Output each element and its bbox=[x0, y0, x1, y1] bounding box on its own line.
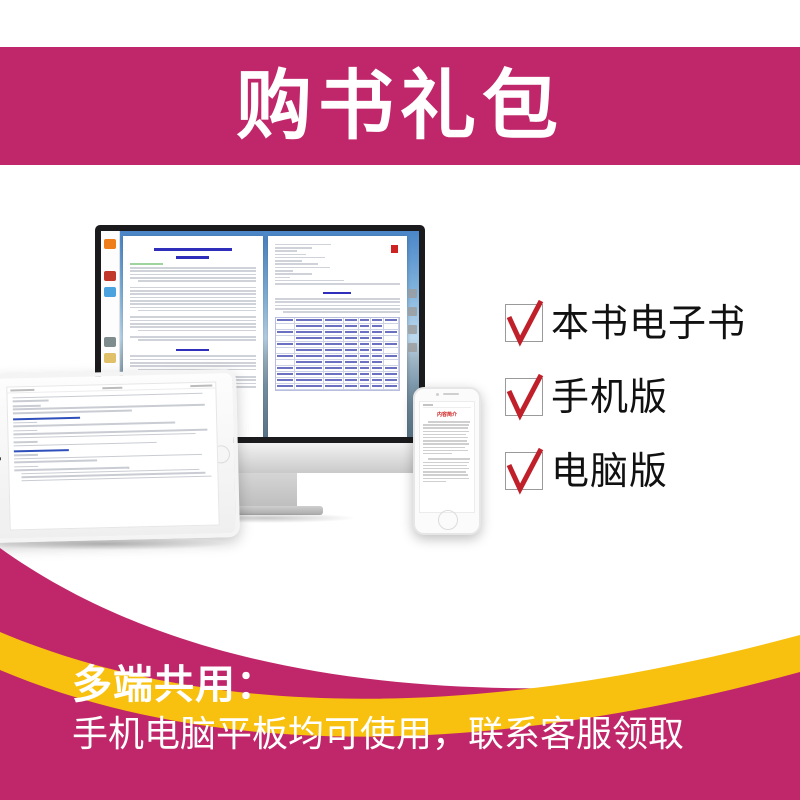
page-title: 购书礼包 bbox=[0, 47, 800, 165]
footer-decoration bbox=[0, 520, 800, 800]
promo-poster: 购书礼包 bbox=[0, 0, 800, 800]
checklist-item-label: 手机版 bbox=[551, 378, 668, 416]
feature-checklist: 本书电子书 手机版 电脑版 bbox=[505, 295, 800, 517]
checklist-item-mobile[interactable]: 手机版 bbox=[505, 369, 800, 424]
checklist-item-label: 电脑版 bbox=[551, 452, 668, 490]
check-icon bbox=[507, 447, 547, 495]
footer-subline: 手机电脑平板均可使用，联系客服领取 bbox=[72, 712, 772, 757]
tablet-screen bbox=[6, 381, 219, 530]
page-subheading bbox=[176, 256, 209, 259]
text-highlight bbox=[130, 263, 163, 266]
phone-screen: 内容简介 bbox=[419, 401, 475, 513]
check-icon bbox=[507, 373, 547, 421]
phone-nav-bar[interactable] bbox=[423, 404, 471, 408]
checklist-item-ebook[interactable]: 本书电子书 bbox=[505, 295, 800, 350]
tablet-camera-icon bbox=[0, 457, 1, 461]
sidebar-icon-orange[interactable] bbox=[104, 239, 116, 249]
reader-side-controls[interactable] bbox=[408, 289, 417, 361]
checklist-item-desktop[interactable]: 电脑版 bbox=[505, 443, 800, 498]
phone-device: 内容简介 bbox=[413, 387, 481, 535]
control-button-2[interactable] bbox=[408, 307, 417, 316]
checkbox[interactable] bbox=[505, 304, 543, 342]
footer-headline: 多端共用： bbox=[72, 662, 772, 708]
data-table bbox=[275, 317, 401, 391]
checklist-item-label: 本书电子书 bbox=[551, 304, 746, 342]
footer-text-block: 多端共用： 手机电脑平板均可使用，联系客服领取 bbox=[72, 662, 772, 757]
control-button-1[interactable] bbox=[408, 289, 417, 298]
phone-camera-icon bbox=[436, 393, 439, 396]
bookmark-icon bbox=[391, 245, 398, 253]
check-icon bbox=[507, 299, 547, 347]
phone-earpiece bbox=[415, 389, 479, 399]
tablet-device bbox=[0, 369, 240, 543]
control-button-4[interactable] bbox=[408, 343, 417, 352]
phone-speaker-icon bbox=[443, 393, 459, 396]
checkbox[interactable] bbox=[505, 378, 543, 416]
device-group: 内容简介 bbox=[0, 200, 520, 560]
reader-page-right bbox=[268, 236, 408, 437]
sidebar-icon-tan[interactable] bbox=[104, 353, 116, 363]
page-heading bbox=[154, 248, 232, 251]
control-button-3[interactable] bbox=[408, 325, 417, 334]
sidebar-icon-red[interactable] bbox=[104, 271, 116, 281]
checkbox[interactable] bbox=[505, 452, 543, 490]
sidebar-icon-gray[interactable] bbox=[104, 337, 116, 347]
phone-screen-title: 内容简介 bbox=[423, 411, 471, 418]
sidebar-icon-blue[interactable] bbox=[104, 287, 116, 297]
